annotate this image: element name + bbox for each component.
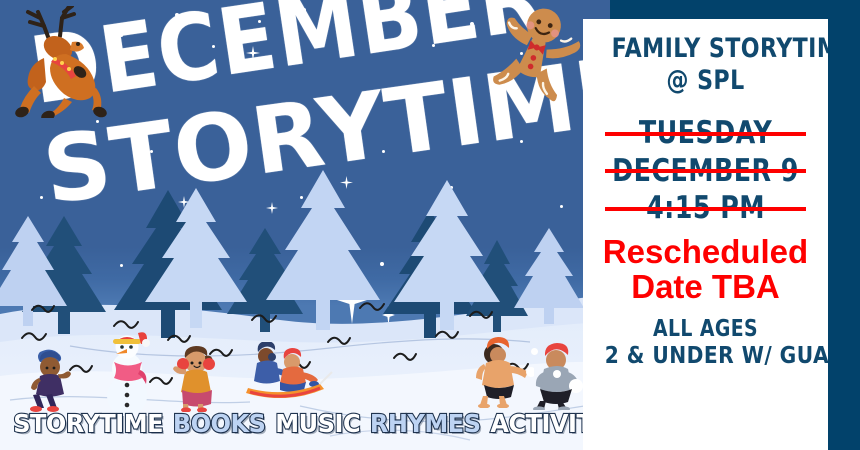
child-right-snowman-icon <box>172 344 224 412</box>
audience-info: ALL AGES 2 & UNDER W/ GUARDIAN <box>591 318 820 368</box>
audience-all-ages: ALL AGES <box>612 318 800 341</box>
star-dot <box>175 13 179 17</box>
winter-scene: DECEMBER STORYTIME <box>0 0 612 450</box>
cancelled-schedule: TUESDAY DECEMBER 9 4:15 PM <box>591 118 820 225</box>
star-dot <box>150 150 153 153</box>
cancelled-date-row: DECEMBER 9 <box>591 156 820 188</box>
star-dot <box>560 205 563 208</box>
strikethrough-line <box>605 132 806 136</box>
star-dot <box>382 150 385 153</box>
strikethrough-line <box>605 169 806 173</box>
poster-canvas: DECEMBER STORYTIME <box>0 0 860 450</box>
cancelled-time-row: 4:15 PM <box>591 193 820 225</box>
rescheduled-line-2: Date TBA <box>591 270 820 305</box>
children-sledding-icon <box>240 342 334 398</box>
keyword-rhymes: RHYMES <box>370 411 481 436</box>
sparkle-icon <box>246 46 260 60</box>
audience-guardian-note: 2 & UNDER W/ GUARDIAN <box>605 345 807 368</box>
snowman-icon <box>84 330 170 416</box>
card-title-line-2: @ SPL <box>612 67 800 95</box>
star-dot <box>432 44 435 47</box>
cancelled-day-row: TUESDAY <box>591 118 820 150</box>
rescheduled-line-1: Rescheduled <box>591 235 820 270</box>
card-title-line-1: FAMILY STORYTIME <box>612 35 800 63</box>
info-card: FAMILY STORYTIME @ SPL TUESDAY DECEMBER … <box>583 19 828 450</box>
star-dot <box>40 196 43 199</box>
star-dot <box>96 120 99 123</box>
sparkle-icon <box>406 94 418 106</box>
keyword-storytime: STORYTIME <box>13 411 163 436</box>
star-dot <box>258 20 261 23</box>
star-dot <box>388 14 391 17</box>
star-dot <box>228 168 231 171</box>
child-throwing-snowball-icon <box>472 336 534 408</box>
star-dot <box>212 45 215 48</box>
rescheduled-notice: Rescheduled Date TBA <box>591 235 820 304</box>
child-left-snowman-icon <box>26 348 72 412</box>
keyword-banner: STORYTIME BOOKS MUSIC RHYMES ACTIVITIES … <box>12 411 600 436</box>
snowball-dot <box>531 348 538 355</box>
reindeer-icon <box>8 6 112 118</box>
gingerbread-man-icon <box>486 4 582 108</box>
star-dot <box>302 8 306 12</box>
star-dot <box>338 38 341 41</box>
keyword-books: BOOKS <box>173 411 266 436</box>
star-dot <box>520 140 523 143</box>
strikethrough-line <box>605 207 806 211</box>
star-dot <box>470 22 474 26</box>
keyword-music: MUSIC <box>275 411 360 436</box>
star-dot <box>120 34 123 37</box>
snowball-dot <box>553 370 561 378</box>
